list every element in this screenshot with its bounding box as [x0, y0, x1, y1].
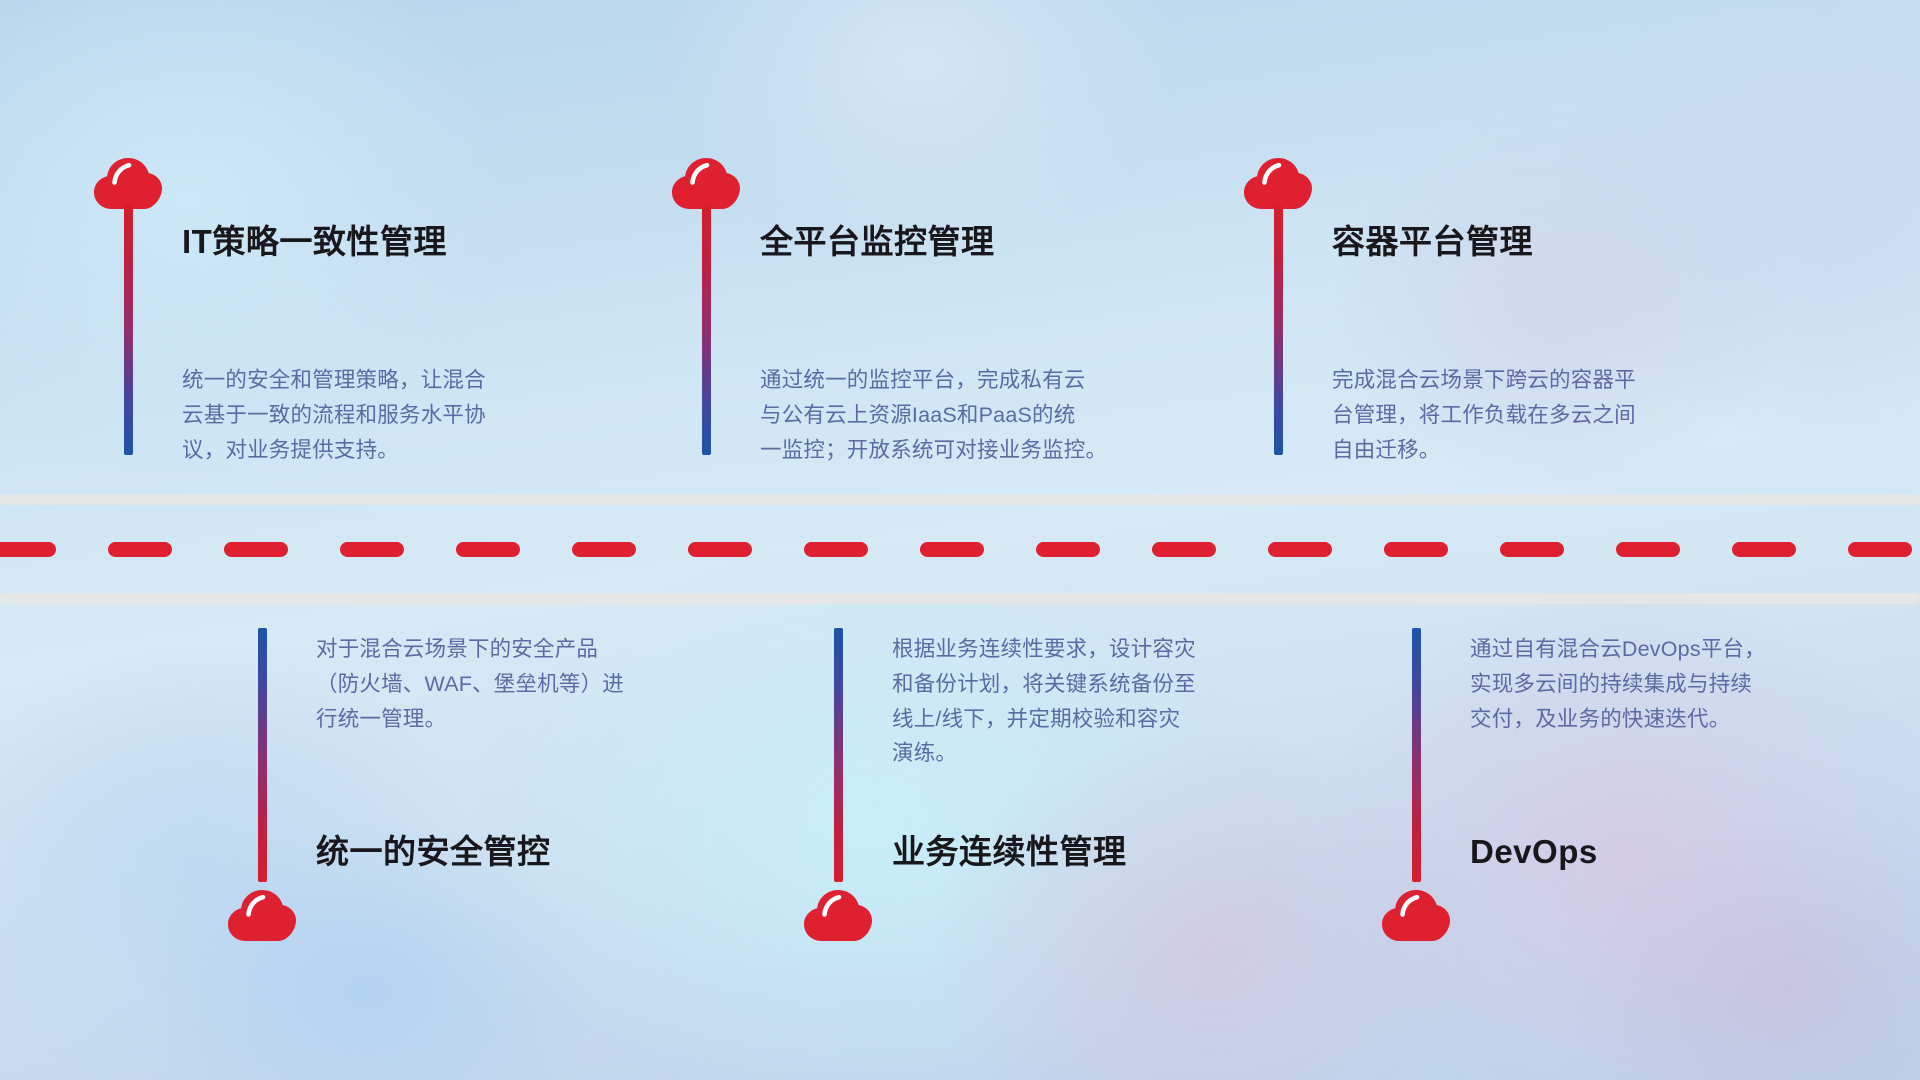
- cloud-icon: [672, 158, 740, 210]
- road-dash: [1268, 542, 1332, 557]
- road-dash: [1152, 542, 1216, 557]
- body-line: 通过统一的监控平台，完成私有云: [760, 363, 1190, 398]
- body-line: 演练。: [892, 736, 1322, 771]
- body-line: 云基于一致的流程和服务水平协: [182, 398, 612, 433]
- cloud-icon: [1244, 158, 1312, 210]
- bottom-item-body: 通过自有混合云DevOps平台， 实现多云间的持续集成与持续 交付，及业务的快速…: [1470, 632, 1900, 736]
- road-dash: [0, 542, 56, 557]
- body-line: 和备份计划，将关键系统备份至: [892, 667, 1322, 702]
- bottom-item-heading: 统一的安全管控: [316, 832, 551, 872]
- body-line: 议，对业务提供支持。: [182, 433, 612, 468]
- infographic-canvas: IT策略一致性管理 统一的安全和管理策略，让混合 云基于一致的流程和服务水平协 …: [0, 0, 1920, 1080]
- connector-stem: [258, 628, 267, 882]
- bottom-item-body: 对于混合云场景下的安全产品 （防火墙、WAF、堡垒机等）进 行统一管理。: [316, 632, 746, 736]
- road-dash: [1848, 542, 1912, 557]
- top-item-body: 统一的安全和管理策略，让混合 云基于一致的流程和服务水平协 议，对业务提供支持。: [182, 363, 612, 467]
- road-dash: [1384, 542, 1448, 557]
- connector-stem: [702, 205, 711, 455]
- connector-stem: [1274, 205, 1283, 455]
- connector-stem: [124, 205, 133, 455]
- bottom-item-heading: 业务连续性管理: [892, 832, 1127, 872]
- body-line: 交付，及业务的快速迭代。: [1470, 702, 1900, 737]
- top-item-body: 完成混合云场景下跨云的容器平 台管理，将工作负载在多云之间 自由迁移。: [1332, 363, 1762, 467]
- body-line: 统一的安全和管理策略，让混合: [182, 363, 612, 398]
- road-dash: [1616, 542, 1680, 557]
- road-line-lower: [0, 593, 1920, 604]
- body-line: 通过自有混合云DevOps平台，: [1470, 632, 1900, 667]
- body-line: 实现多云间的持续集成与持续: [1470, 667, 1900, 702]
- body-line: 一监控；开放系统可对接业务监控。: [760, 433, 1190, 468]
- connector-stem: [1412, 628, 1421, 882]
- background-bloom: [1250, 40, 1870, 560]
- road-dash: [108, 542, 172, 557]
- bottom-item-body: 根据业务连续性要求，设计容灾 和备份计划，将关键系统备份至 线上/线下，并定期校…: [892, 632, 1322, 771]
- bottom-item-heading: DevOps: [1470, 832, 1598, 872]
- road-dash: [1732, 542, 1796, 557]
- body-line: 行统一管理。: [316, 702, 746, 737]
- road-dash: [1500, 542, 1564, 557]
- cloud-icon: [228, 890, 296, 942]
- road-line-upper: [0, 494, 1920, 505]
- cloud-icon: [1382, 890, 1450, 942]
- road-dash: [804, 542, 868, 557]
- road-dash: [1036, 542, 1100, 557]
- road-dash: [920, 542, 984, 557]
- cloud-icon: [804, 890, 872, 942]
- road-dash: [340, 542, 404, 557]
- connector-stem: [834, 628, 843, 882]
- body-line: （防火墙、WAF、堡垒机等）进: [316, 667, 746, 702]
- body-line: 根据业务连续性要求，设计容灾: [892, 632, 1322, 667]
- cloud-icon: [94, 158, 162, 210]
- road-dashed-centerline: [0, 542, 1920, 557]
- top-item-heading: IT策略一致性管理: [182, 222, 447, 262]
- body-line: 线上/线下，并定期校验和容灾: [892, 702, 1322, 737]
- road-dash: [456, 542, 520, 557]
- top-item-body: 通过统一的监控平台，完成私有云 与公有云上资源IaaS和PaaS的统 一监控；开…: [760, 363, 1190, 467]
- body-line: 自由迁移。: [1332, 433, 1762, 468]
- road-dash: [224, 542, 288, 557]
- top-item-heading: 容器平台管理: [1332, 222, 1533, 262]
- road-dash: [572, 542, 636, 557]
- top-item-heading: 全平台监控管理: [760, 222, 995, 262]
- body-line: 与公有云上资源IaaS和PaaS的统: [760, 398, 1190, 433]
- road-dash: [688, 542, 752, 557]
- body-line: 对于混合云场景下的安全产品: [316, 632, 746, 667]
- body-line: 完成混合云场景下跨云的容器平: [1332, 363, 1762, 398]
- body-line: 台管理，将工作负载在多云之间: [1332, 398, 1762, 433]
